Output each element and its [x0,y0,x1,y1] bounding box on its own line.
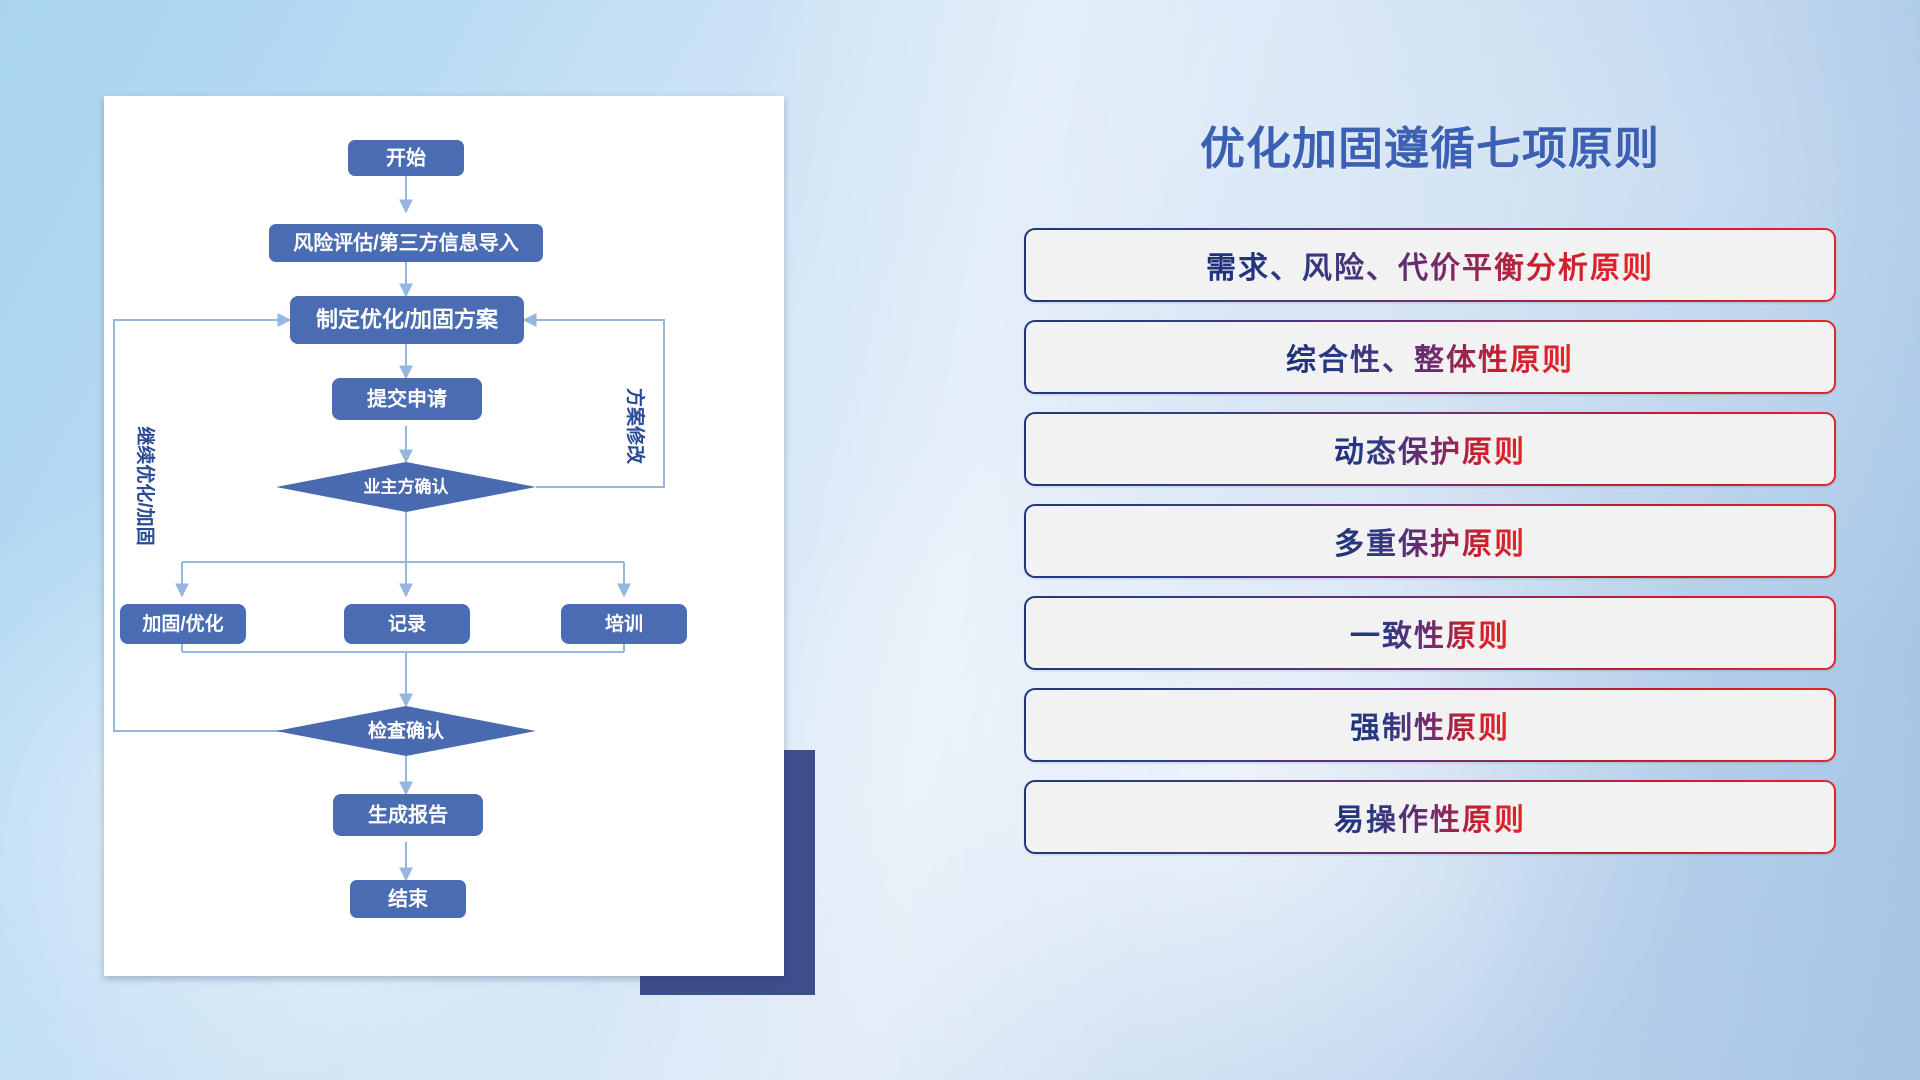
flow-node-check-confirm[interactable]: 检查确认 [276,706,536,756]
flow-node-record-label: 记录 [388,613,426,635]
flow-node-reinforce[interactable]: 加固/优化 [120,604,246,644]
principles-card-list: 需求、风险、代价平衡分析原则 综合性、整体性原则 动态保护原则 多重保护原则 一… [1024,228,1836,872]
flow-node-check-confirm-label: 检查确认 [368,719,444,742]
flow-edge-label-right: 方案修改 [624,388,647,465]
flow-connectors [114,176,664,880]
flow-node-end[interactable]: 结束 [350,880,466,918]
slide-canvas: 开始 风险评估/第三方信息导入 制定优化/加固方案 提交申请 [0,0,1920,1080]
flow-node-start[interactable]: 开始 [348,140,464,176]
flow-node-plan-label: 制定优化/加固方案 [316,307,499,332]
principle-card[interactable]: 动态保护原则 [1024,412,1836,486]
principle-card[interactable]: 一致性原则 [1024,596,1836,670]
flow-node-reinforce-label: 加固/优化 [141,612,223,635]
flow-node-submit-label: 提交申请 [367,386,447,410]
principle-card[interactable]: 强制性原则 [1024,688,1836,762]
principle-card[interactable]: 综合性、整体性原则 [1024,320,1836,394]
flow-node-risk-assessment[interactable]: 风险评估/第三方信息导入 [269,224,543,262]
flow-node-report[interactable]: 生成报告 [333,794,483,836]
principle-card[interactable]: 易操作性原则 [1024,780,1836,854]
flowchart-diagram: 开始 风险评估/第三方信息导入 制定优化/加固方案 提交申请 [104,96,784,976]
principle-label: 需求、风险、代价平衡分析原则 [1206,243,1654,287]
flow-node-plan[interactable]: 制定优化/加固方案 [290,296,524,344]
principle-label: 易操作性原则 [1334,795,1526,839]
principle-card[interactable]: 多重保护原则 [1024,504,1836,578]
principle-label: 综合性、整体性原则 [1286,335,1574,379]
flow-node-submit[interactable]: 提交申请 [332,378,482,420]
principle-label: 强制性原则 [1350,703,1510,747]
flow-node-owner-confirm-label: 业主方确认 [364,476,450,496]
flow-node-risk-assessment-label: 风险评估/第三方信息导入 [293,230,519,254]
flow-node-record[interactable]: 记录 [344,604,470,644]
principle-card[interactable]: 需求、风险、代价平衡分析原则 [1024,228,1836,302]
flow-node-start-label: 开始 [386,145,426,169]
principle-label: 多重保护原则 [1334,519,1526,563]
flow-edge-label-left: 继续优化/加固 [134,426,157,545]
flow-node-owner-confirm[interactable]: 业主方确认 [276,462,536,512]
principle-label: 一致性原则 [1350,611,1510,655]
flowchart-card: 开始 风险评估/第三方信息导入 制定优化/加固方案 提交申请 [104,96,784,976]
flow-node-end-label: 结束 [388,886,429,910]
flow-node-training-label: 培训 [605,612,643,635]
principles-panel: 优化加固遵循七项原则 需求、风险、代价平衡分析原则 综合性、整体性原则 动态保护… [1010,96,1850,1016]
principles-title: 优化加固遵循七项原则 [1010,112,1850,177]
flow-node-training[interactable]: 培训 [561,604,687,644]
flow-node-report-label: 生成报告 [368,802,448,826]
principle-label: 动态保护原则 [1334,427,1526,471]
